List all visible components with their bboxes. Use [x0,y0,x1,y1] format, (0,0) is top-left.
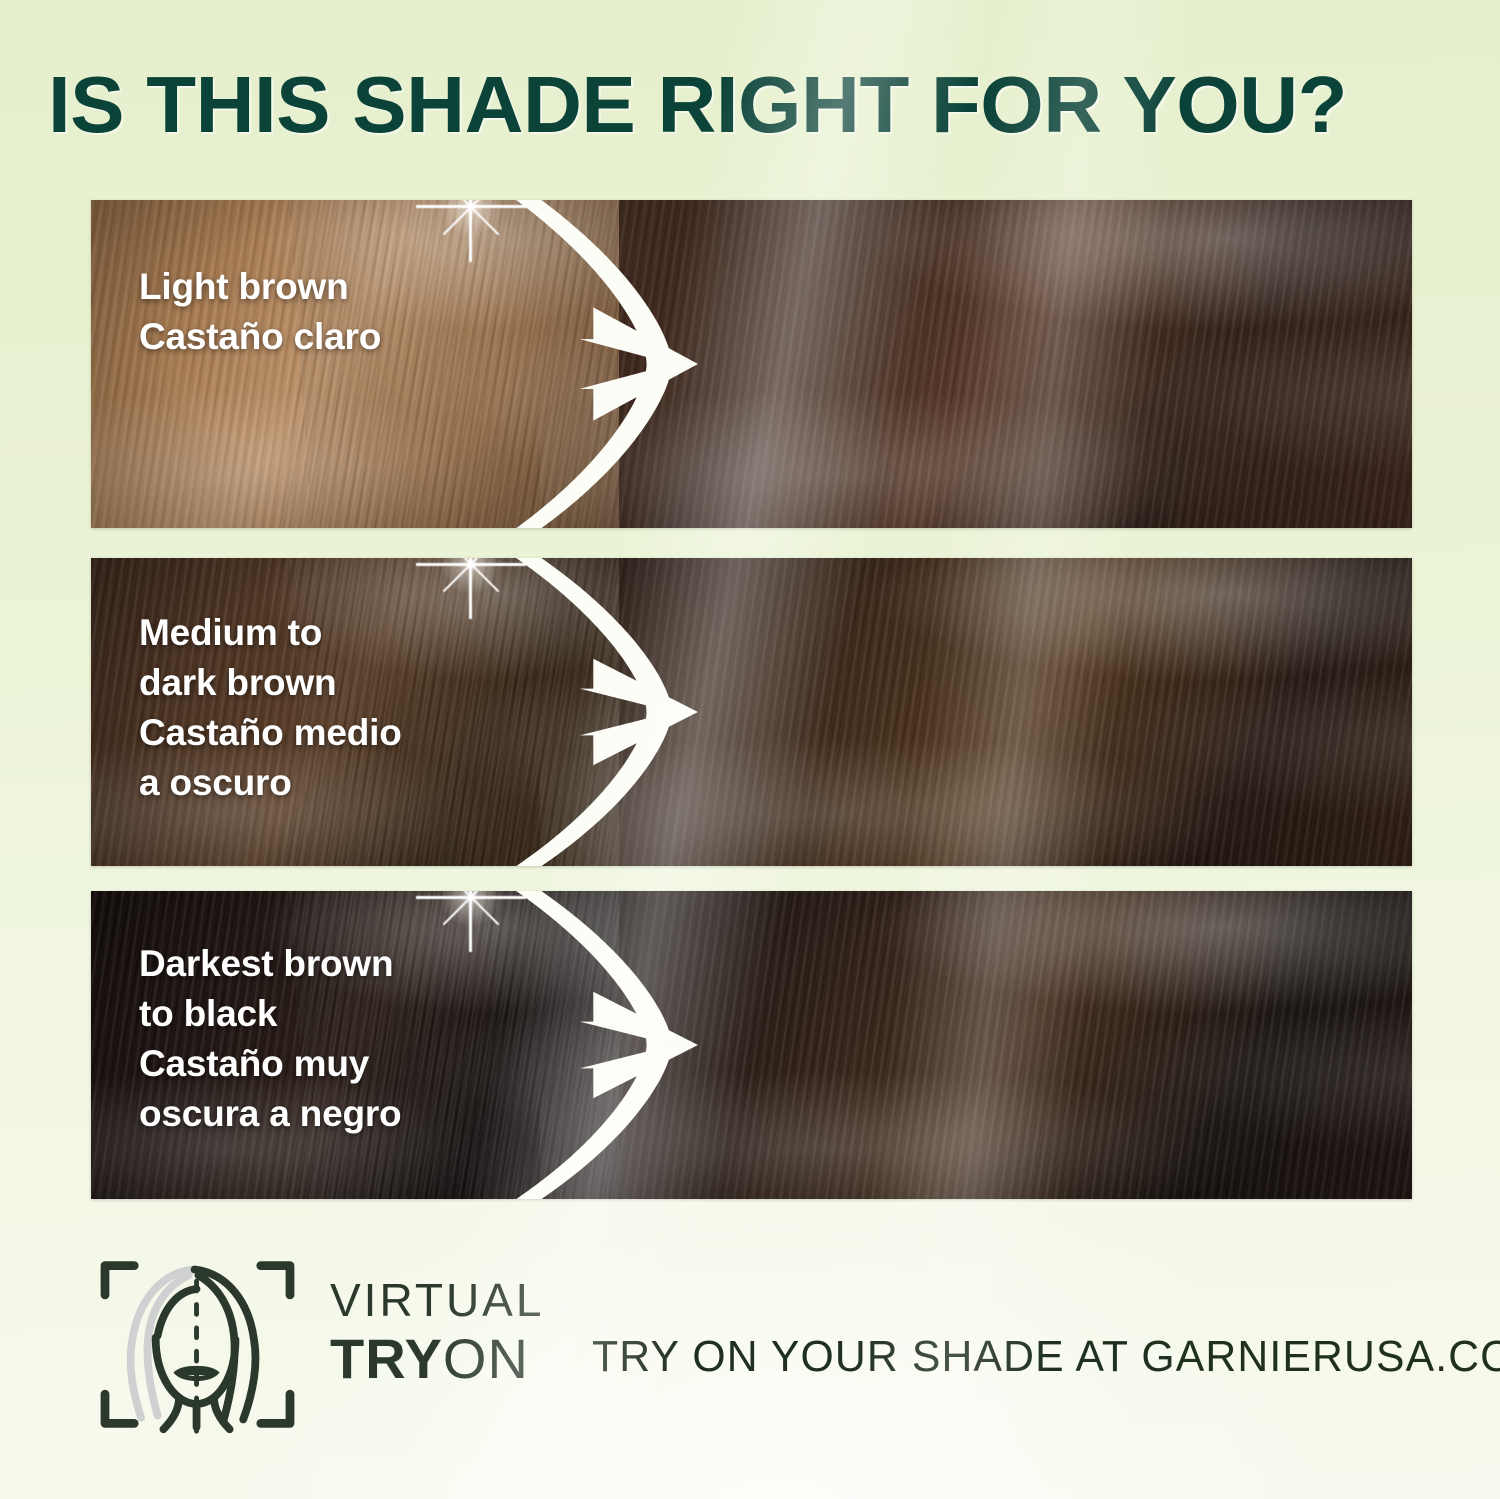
footer-tagline: TRY ON YOUR SHADE AT GARNIERUSA.COM [592,1332,1500,1382]
hair-swatch-pair [91,200,1412,528]
shade-label: Medium to dark brown Castaño medio a osc… [139,608,402,808]
shade-label: Light brown Castaño claro [139,262,381,362]
shade-guide-graphic: IS THIS SHADE RIGHT FOR YOU? Light brown… [0,0,1500,1499]
shade-label: Darkest brown to black Castaño muy oscur… [139,939,401,1139]
logo-line-virtual: VIRTUAL [330,1274,544,1326]
shade-panel-medium-dark-brown[interactable]: Medium to dark brown Castaño medio a osc… [91,558,1412,866]
hair-after-swatch [619,200,1412,528]
logo-line-on: ON [443,1327,529,1390]
shade-panel-light-brown[interactable]: Light brown Castaño claro [91,200,1412,528]
hair-after-swatch [619,891,1412,1199]
virtual-try-on-face-scan-icon [95,1252,300,1437]
hair-after-swatch [619,558,1412,866]
virtual-try-on-wordmark: VIRTUAL TRYON [330,1274,544,1390]
shade-panel-darkest-brown-black[interactable]: Darkest brown to black Castaño muy oscur… [91,891,1412,1199]
page-title: IS THIS SHADE RIGHT FOR YOU? [48,62,1486,148]
logo-line-try: TRY [330,1327,443,1390]
